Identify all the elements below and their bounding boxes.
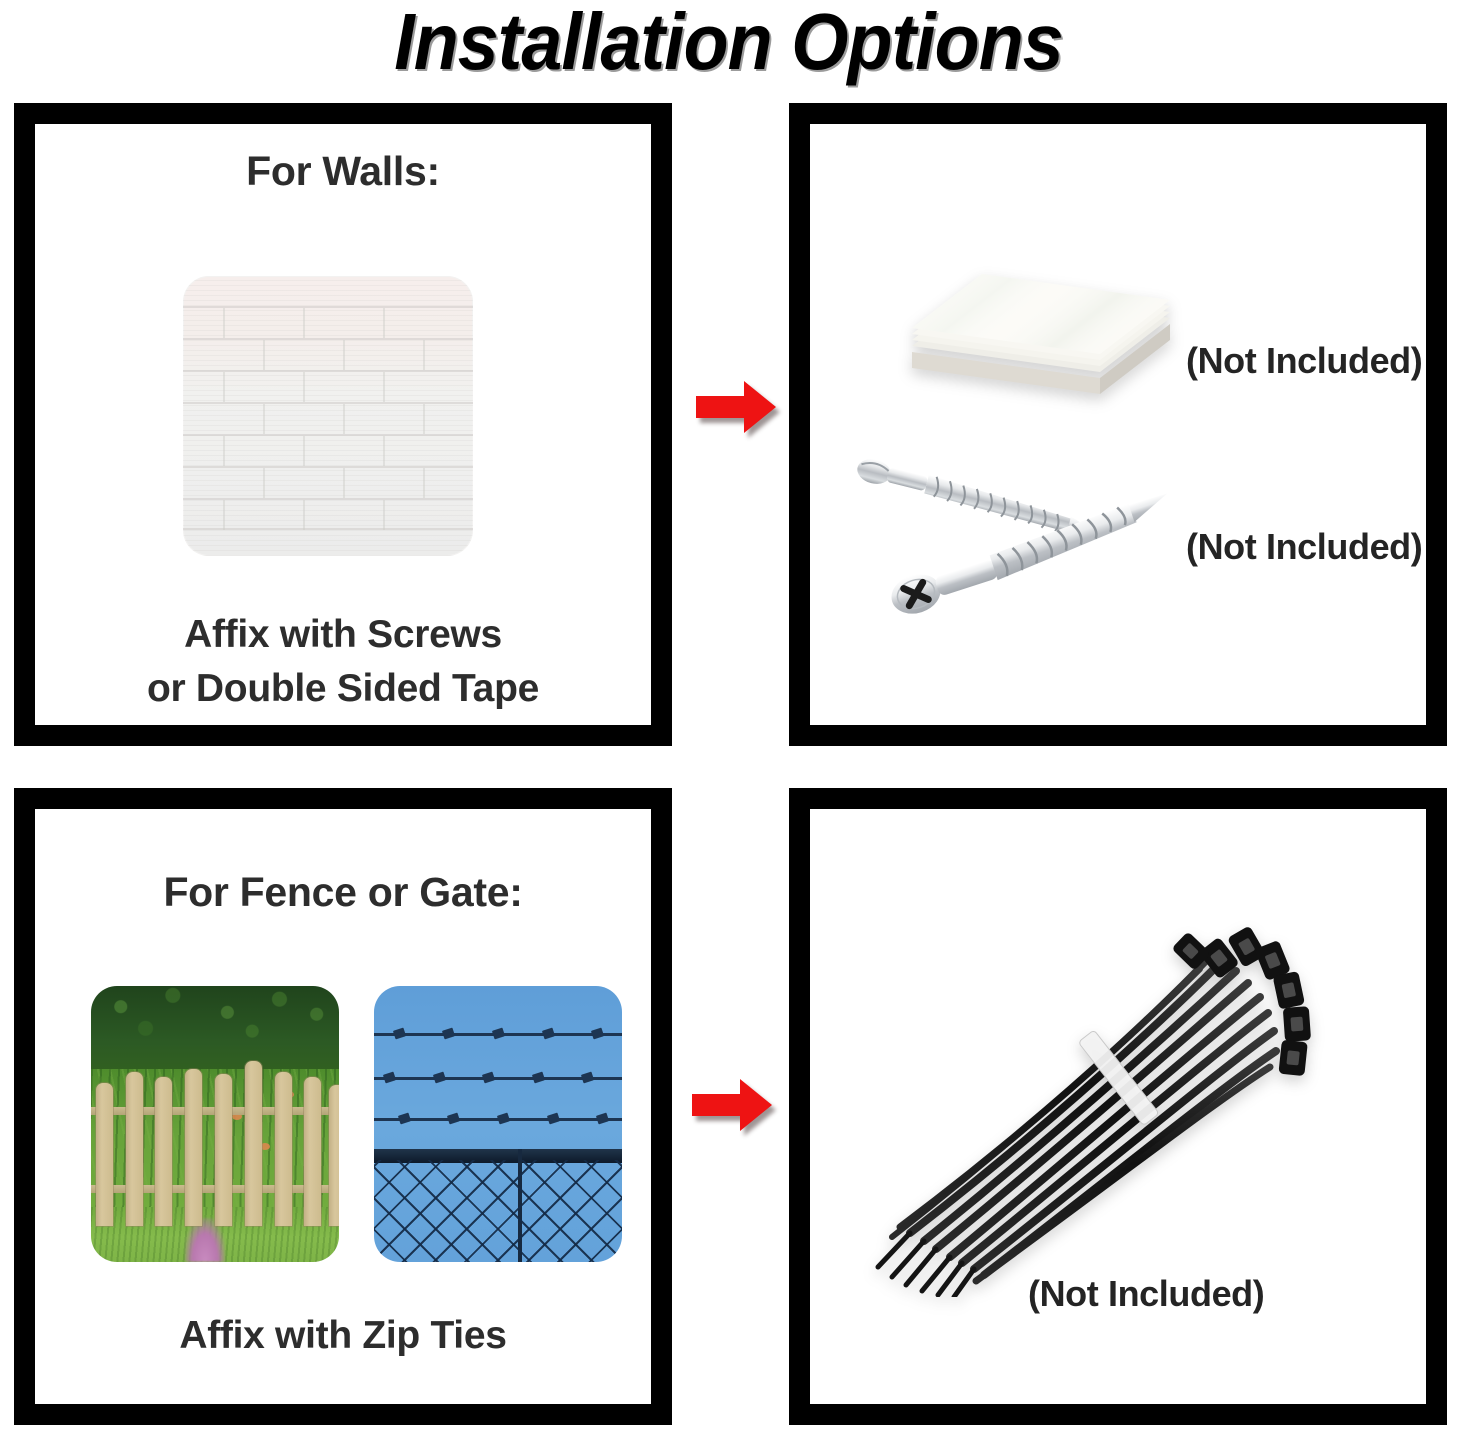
panel-for-fence-or-gate: For Fence or Gate: bbox=[14, 788, 672, 1425]
caption-line-1: Affix with Screws bbox=[35, 608, 651, 662]
page-title: Installation Options bbox=[58, 0, 1398, 88]
chain-link-barbed-wire-fence-photo bbox=[374, 986, 622, 1262]
for-fence-or-gate-heading: For Fence or Gate: bbox=[35, 869, 651, 916]
white-brick-wall-swatch bbox=[183, 276, 473, 556]
installation-options-infographic: Installation Options For Walls: bbox=[0, 0, 1457, 1434]
for-walls-caption: Affix with Screws or Double Sided Tape bbox=[35, 608, 651, 716]
red-right-arrow bbox=[690, 1076, 774, 1134]
panel-zip-ties: (Not Included) bbox=[789, 788, 1447, 1425]
screws-not-included-label: (Not Included) bbox=[1186, 526, 1422, 568]
for-fence-caption: Affix with Zip Ties bbox=[35, 1309, 651, 1363]
black-zip-ties-bundle bbox=[870, 917, 1320, 1297]
red-right-arrow bbox=[694, 378, 778, 436]
silver-wood-screws bbox=[846, 444, 1206, 634]
brick-grain-texture bbox=[183, 276, 473, 556]
zip-ties-not-included-label: (Not Included) bbox=[1028, 1273, 1264, 1315]
panel-for-walls: For Walls: bbox=[14, 103, 672, 746]
panel-wall-hardware: (Not Included) bbox=[789, 103, 1447, 746]
caption-line-2: or Double Sided Tape bbox=[35, 662, 651, 716]
double-sided-tape-stack bbox=[884, 234, 1184, 414]
for-walls-heading: For Walls: bbox=[35, 148, 651, 195]
tape-not-included-label: (Not Included) bbox=[1186, 340, 1422, 382]
wooden-picket-fence-photo bbox=[91, 986, 339, 1262]
